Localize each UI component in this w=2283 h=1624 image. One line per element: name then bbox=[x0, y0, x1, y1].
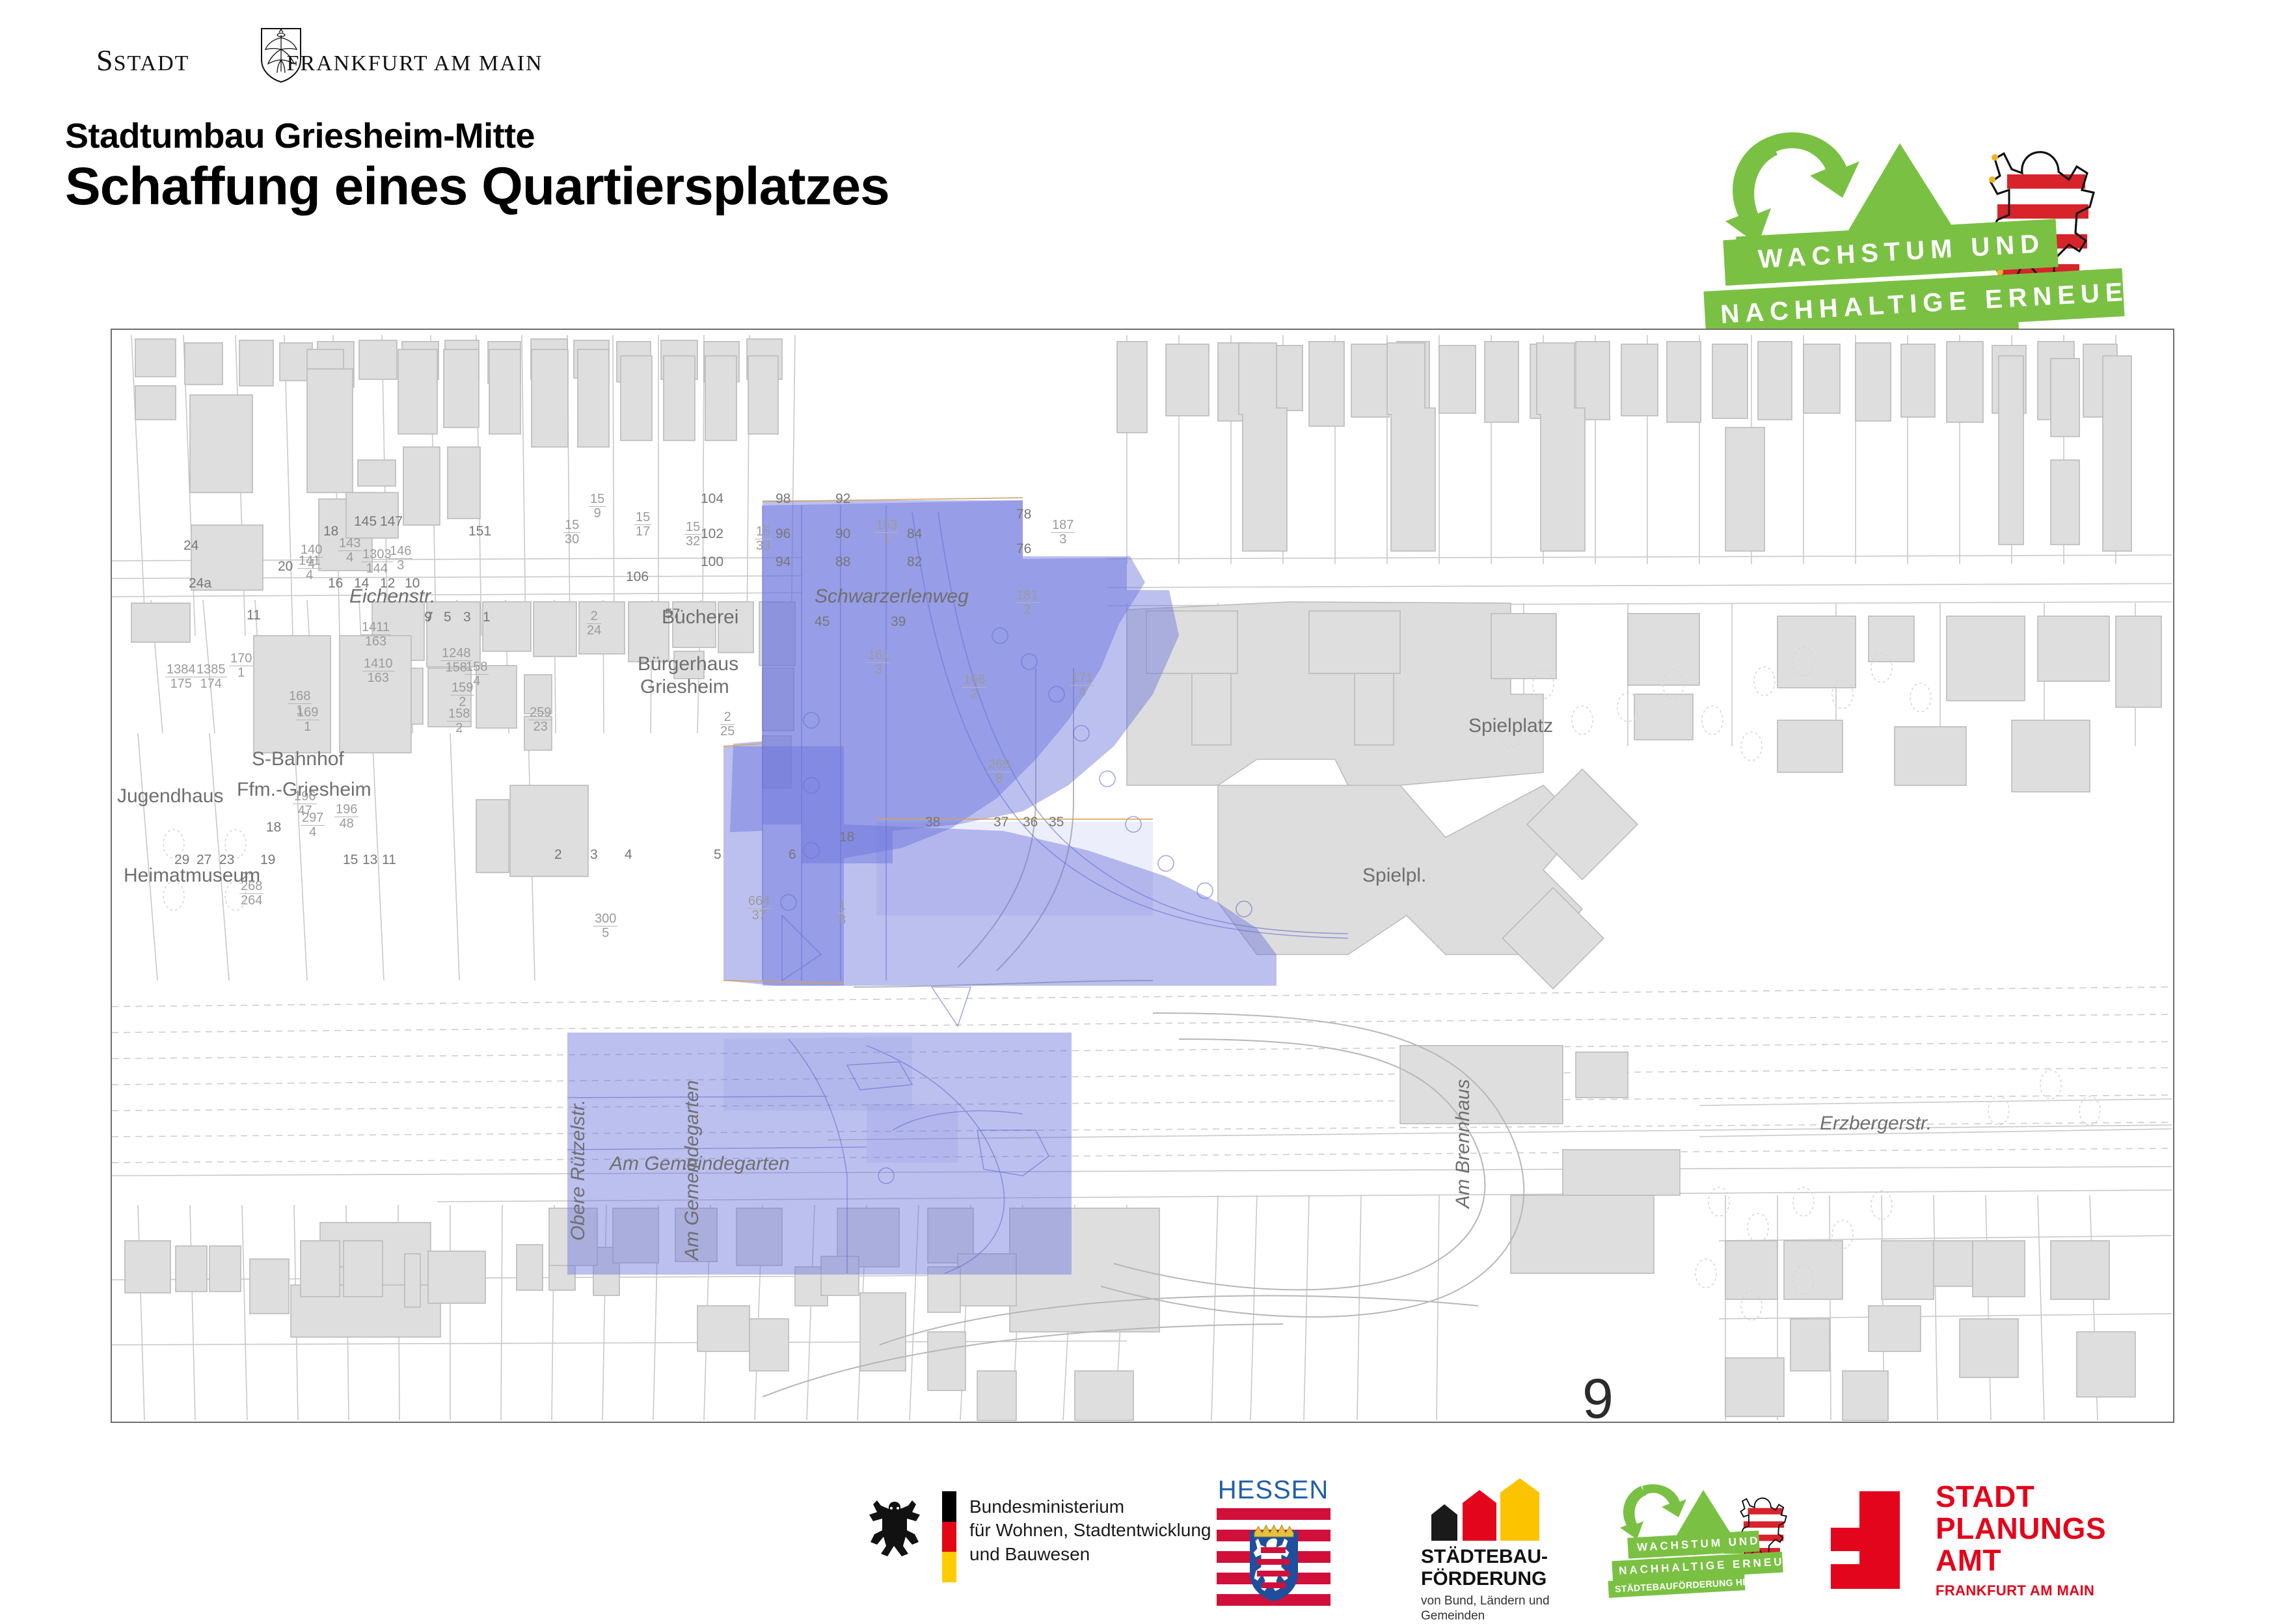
map-parcel-fraction: 159 bbox=[589, 493, 606, 521]
bundesadler-icon bbox=[865, 1496, 924, 1562]
map-parcel-fraction: 18 bbox=[837, 899, 847, 927]
street-label-schwarzerlenweg: Schwarzerlenweg bbox=[815, 586, 969, 608]
map-house-number: 7 bbox=[426, 610, 433, 625]
map-parcel-fraction: 1701 bbox=[229, 652, 253, 680]
map-house-number: 29 bbox=[174, 852, 189, 868]
map-vector-layer: 9 bbox=[112, 330, 2173, 1422]
map-house-number: 57 bbox=[665, 606, 680, 622]
map-parcel-fraction: 225 bbox=[720, 710, 735, 738]
map-house-number: 2 bbox=[554, 847, 562, 863]
map-house-number: 18 bbox=[839, 830, 854, 845]
map-house-number: 3 bbox=[463, 610, 471, 625]
map-house-number: 92 bbox=[835, 491, 850, 507]
map-house-number: 82 bbox=[907, 554, 922, 570]
logo-word-stadt: Stadt bbox=[114, 51, 190, 75]
staedtebaufoerderung-logo: STÄDTEBAU- FÖRDERUNG von Bund, Ländern u… bbox=[1412, 1478, 1601, 1608]
map-parcel-fraction: 1434 bbox=[338, 537, 362, 565]
staedtebau-line1: STÄDTEBAU- bbox=[1421, 1546, 1548, 1568]
map-house-number: 76 bbox=[1016, 541, 1031, 557]
page-header: SStadt Frankfurt am Main Stadtumbau Grie… bbox=[0, 0, 2283, 325]
page-title: Schaffung eines Quartiersplatzes bbox=[65, 156, 889, 217]
stadtplanungsamt-mark-icon bbox=[1822, 1491, 1913, 1589]
bmwsb-line3: und Bauwesen bbox=[969, 1543, 1211, 1566]
map-house-number: 15 bbox=[343, 852, 358, 868]
poi-label-griesheim: Griesheim bbox=[640, 676, 729, 698]
map-parcel-fraction: 1532 bbox=[684, 521, 701, 548]
spa-subline: FRANKFURT AM MAIN bbox=[1936, 1582, 2094, 1599]
poi-label-spielplatz: Spielplatz bbox=[1468, 715, 1553, 737]
map-parcel-fraction: 2698 bbox=[987, 758, 1011, 786]
map-house-number: 14 bbox=[354, 576, 369, 591]
hessen-coat-of-arms-icon bbox=[1248, 1517, 1300, 1602]
map-house-number: 5 bbox=[444, 610, 452, 625]
map-parcel-fraction: 1411163 bbox=[360, 621, 391, 649]
german-flag-bar bbox=[942, 1491, 956, 1582]
map-parcel-fraction: 1410163 bbox=[362, 657, 394, 685]
map-house-number: 13 bbox=[362, 852, 377, 868]
map-parcel-fraction: 224 bbox=[587, 610, 601, 638]
map-house-number: 94 bbox=[776, 554, 790, 570]
map-house-number: 39 bbox=[891, 614, 906, 630]
hessen-flag bbox=[1217, 1508, 1331, 1606]
map-house-number: 12 bbox=[380, 576, 395, 591]
map-parcel-fraction: 1714 bbox=[1070, 671, 1094, 699]
map-house-number: 35 bbox=[1049, 815, 1064, 830]
map-parcel-fraction: 1414 bbox=[297, 554, 321, 582]
hessen-logo: HESSEN bbox=[1211, 1476, 1335, 1606]
staedtebau-sub2: Gemeinden bbox=[1421, 1609, 1550, 1624]
map-house-number: 23 bbox=[219, 852, 234, 868]
map-house-number: 100 bbox=[701, 554, 723, 570]
map-parcel-fraction: 25923 bbox=[528, 706, 552, 734]
stadtplanungsamt-wordmark: STADT PLANUNGS AMT bbox=[1936, 1481, 2106, 1576]
stadt-frankfurt-wordmark: SStadt Frankfurt am Main bbox=[96, 43, 513, 77]
map-house-number: 11 bbox=[382, 852, 396, 868]
map-house-number: 88 bbox=[835, 554, 850, 570]
map-house-number: 145 bbox=[354, 514, 377, 530]
map-house-number: 96 bbox=[776, 526, 790, 542]
map-parcel-fraction: 1662 bbox=[962, 673, 986, 701]
map-house-number: 10 bbox=[405, 576, 420, 591]
stadtplanungsamt-logo: STADT PLANUNGS AMT FRANKFURT AM MAIN bbox=[1822, 1478, 2173, 1608]
map-house-number: 90 bbox=[835, 526, 850, 542]
spa-line3: AMT bbox=[1936, 1545, 2106, 1577]
bmwsb-line2: für Wohnen, Stadtentwicklung bbox=[969, 1519, 1211, 1542]
three-houses-icon bbox=[1425, 1478, 1542, 1541]
map-house-number: 27 bbox=[196, 852, 211, 868]
map-house-number: 11 bbox=[247, 608, 261, 623]
map-parcel-fraction: 19648 bbox=[334, 803, 358, 831]
spa-line2: PLANUNGS bbox=[1936, 1513, 2106, 1545]
map-house-number: 18 bbox=[323, 524, 338, 539]
map-house-number: 19 bbox=[260, 852, 275, 868]
bmwsb-line1: Bundesministerium bbox=[969, 1495, 1211, 1519]
map-parcel-fraction: 1582 bbox=[447, 707, 471, 735]
map-parcel-fraction: 1531 bbox=[874, 519, 898, 547]
map-house-number: 36 bbox=[1023, 815, 1038, 830]
map-parcel-fraction: 66437 bbox=[747, 895, 771, 923]
map-house-number: 18 bbox=[266, 820, 281, 835]
map-parcel-fraction: 1691 bbox=[295, 706, 319, 734]
bmwsb-wordmark: Bundesministerium für Wohnen, Stadtentwi… bbox=[969, 1495, 1211, 1566]
street-label-am-gemeindegarten-2: Am Gemeindegarten bbox=[681, 1080, 703, 1260]
map-big-number: 9 bbox=[1582, 1368, 1614, 1422]
map-house-number: 151 bbox=[468, 524, 491, 539]
poi-label-s-bahnhof: S-Bahnhof bbox=[252, 748, 344, 770]
map-parcel-fraction: 1613 bbox=[867, 649, 891, 677]
poi-label-buergerhaus: Bürgerhaus bbox=[638, 653, 738, 675]
map-house-number: 24 bbox=[183, 538, 198, 554]
poi-label-jugendhaus: Jugendhaus bbox=[117, 785, 223, 807]
staedtebau-subline: von Bund, Ländern und Gemeinden bbox=[1421, 1594, 1550, 1624]
project-subtitle: Stadtumbau Griesheim-Mitte bbox=[65, 116, 535, 156]
map-parcel-fraction: 268264 bbox=[239, 880, 263, 908]
map-parcel-fraction: 1592 bbox=[450, 681, 474, 709]
map-parcel-fraction: 1384175 bbox=[165, 663, 197, 691]
map-house-number: 4 bbox=[625, 847, 632, 863]
street-label-obere-ruetzelstr: Obere Rützelstr. bbox=[567, 1100, 589, 1241]
map-parcel-fraction: 1873 bbox=[1051, 519, 1075, 547]
map-house-number: 147 bbox=[380, 514, 403, 530]
wachstum-logo-footer: WACHSTUM UND NACHHALTIGE ERNEUERUNG STÄD… bbox=[1607, 1477, 1815, 1607]
spa-line1: STADT bbox=[1936, 1481, 2106, 1513]
staedtebau-wordmark: STÄDTEBAU- FÖRDERUNG bbox=[1421, 1546, 1548, 1590]
map-house-number: 5 bbox=[714, 847, 722, 863]
map-house-number: 106 bbox=[626, 569, 649, 585]
cadastral-map[interactable]: 9 Eichenstr. Schwarzerlenweg Am Gemeinde… bbox=[111, 329, 2174, 1423]
map-house-number: 45 bbox=[815, 614, 830, 630]
map-house-number: 84 bbox=[907, 526, 922, 542]
map-parcel-fraction: 2974 bbox=[301, 811, 325, 839]
stadt-frankfurt-logo: SStadt Frankfurt am Main bbox=[96, 38, 513, 83]
map-house-number: 104 bbox=[701, 491, 723, 507]
map-house-number: 6 bbox=[789, 847, 796, 863]
map-house-number: 102 bbox=[701, 526, 723, 542]
map-parcel-fraction: 1385174 bbox=[195, 663, 227, 691]
map-parcel-fraction: 1530 bbox=[563, 519, 580, 547]
map-house-number: 38 bbox=[925, 815, 940, 830]
map-parcel-fraction: 3005 bbox=[593, 912, 617, 940]
map-house-number: 98 bbox=[776, 491, 790, 507]
map-house-number: 37 bbox=[993, 815, 1008, 830]
map-house-number: 24a bbox=[189, 576, 211, 591]
map-parcel-fraction: 1517 bbox=[634, 511, 651, 539]
staedtebau-line2: FÖRDERUNG bbox=[1421, 1568, 1548, 1590]
funding-logo-bar: Bundesministerium für Wohnen, Stadtentwi… bbox=[0, 1464, 2283, 1614]
map-house-number: 16 bbox=[328, 576, 343, 591]
logo-word-frankfurt: Frankfurt am Main bbox=[287, 51, 543, 75]
map-parcel-fraction: 1303144 bbox=[361, 548, 393, 576]
map-parcel-fraction: 1812 bbox=[1015, 589, 1039, 617]
street-label-am-brennhaus: Am Brennhaus bbox=[1452, 1079, 1474, 1208]
map-house-number: 1 bbox=[483, 610, 491, 625]
staedtebau-sub1: von Bund, Ländern und bbox=[1421, 1594, 1550, 1609]
hessen-wordmark: HESSEN bbox=[1211, 1476, 1335, 1505]
map-parcel-fraction: 1533 bbox=[755, 525, 772, 553]
map-house-number: 78 bbox=[1016, 507, 1031, 522]
poi-label-spielpl: Spielpl. bbox=[1362, 865, 1426, 887]
bmwsb-logo: Bundesministerium für Wohnen, Stadtentwi… bbox=[865, 1483, 1230, 1594]
map-house-number: 20 bbox=[278, 559, 293, 575]
map-house-number: 3 bbox=[590, 847, 598, 863]
street-label-erzbergerstr: Erzbergerstr. bbox=[1820, 1113, 1932, 1135]
